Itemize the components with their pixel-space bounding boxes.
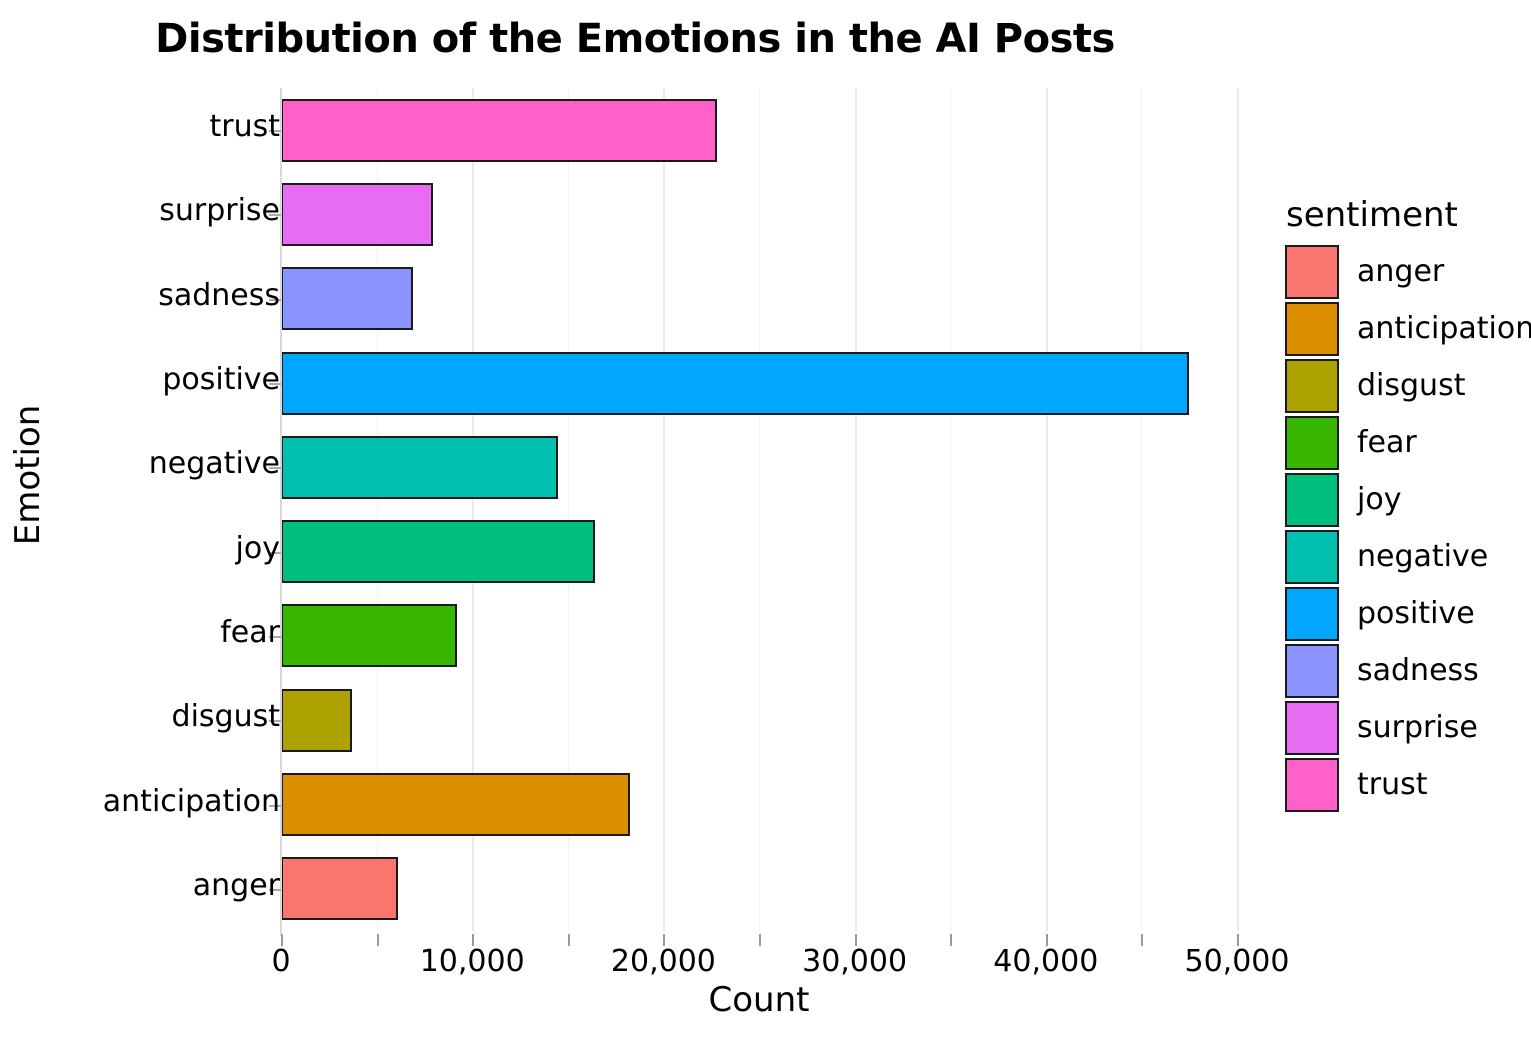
legend-item-sadness[interactable]: sadness: [1285, 642, 1525, 699]
legend-swatch-trust: [1285, 758, 1339, 812]
legend-item-fear[interactable]: fear: [1285, 414, 1525, 471]
legend-swatch-joy: [1285, 473, 1339, 527]
bar-trust: [281, 99, 717, 162]
bar-joy: [281, 520, 595, 583]
bar-fear: [281, 604, 457, 667]
x-tick-mark-minor: [568, 934, 570, 946]
legend-title: sentiment: [1286, 195, 1525, 235]
x-tick-mark-minor: [1141, 934, 1143, 946]
chart-title: Distribution of the Emotions in the AI P…: [0, 16, 1270, 62]
gridline-minor: [950, 88, 951, 931]
bar-positive: [281, 352, 1189, 415]
y-tick-label-negative: negative: [149, 446, 280, 481]
x-tick-label: 50,000: [1185, 944, 1290, 979]
legend-swatch-sadness: [1285, 644, 1339, 698]
legend-swatch-surprise: [1285, 701, 1339, 755]
y-tick-label-fear: fear: [220, 615, 280, 650]
plot-panel: [281, 88, 1237, 931]
legend-item-surprise[interactable]: surprise: [1285, 699, 1525, 756]
legend-label-disgust: disgust: [1357, 368, 1465, 403]
legend-swatch-fear: [1285, 416, 1339, 470]
bar-anticipation: [281, 773, 630, 836]
y-tick-label-anger: anger: [193, 868, 280, 903]
gridline-major: [1046, 88, 1048, 931]
y-axis-title: Emotion: [8, 375, 48, 575]
y-tick-label-positive: positive: [162, 362, 280, 397]
bar-disgust: [281, 689, 352, 752]
x-tick-mark-minor: [759, 934, 761, 946]
y-tick-label-disgust: disgust: [172, 699, 280, 734]
x-tick-label: 0: [271, 944, 290, 979]
legend-label-joy: joy: [1357, 482, 1401, 517]
gridline-minor: [1141, 88, 1142, 931]
y-tick-label-trust: trust: [209, 109, 280, 144]
legend-label-negative: negative: [1357, 539, 1488, 574]
legend-item-trust[interactable]: trust: [1285, 756, 1525, 813]
legend-swatch-positive: [1285, 587, 1339, 641]
legend-item-positive[interactable]: positive: [1285, 585, 1525, 642]
x-tick-label: 30,000: [802, 944, 907, 979]
legend-item-joy[interactable]: joy: [1285, 471, 1525, 528]
y-tick-label-anticipation: anticipation: [103, 784, 280, 819]
x-tick-label: 20,000: [611, 944, 716, 979]
x-axis-title: Count: [281, 980, 1237, 1020]
y-tick-label-surprise: surprise: [159, 193, 280, 228]
gridline-minor: [759, 88, 760, 931]
legend-label-anger: anger: [1357, 254, 1444, 289]
y-tick-label-joy: joy: [236, 531, 280, 566]
legend-label-fear: fear: [1357, 425, 1417, 460]
gridline-major: [855, 88, 857, 931]
x-tick-label: 10,000: [420, 944, 525, 979]
legend-swatch-anger: [1285, 245, 1339, 299]
legend-swatch-negative: [1285, 530, 1339, 584]
legend-label-trust: trust: [1357, 767, 1428, 802]
legend-swatch-anticipation: [1285, 302, 1339, 356]
y-tick-label-sadness: sadness: [158, 278, 280, 313]
legend-item-anger[interactable]: anger: [1285, 243, 1525, 300]
x-tick-label: 40,000: [993, 944, 1098, 979]
legend-swatch-disgust: [1285, 359, 1339, 413]
legend-label-anticipation: anticipation: [1357, 311, 1531, 346]
bar-negative: [281, 436, 558, 499]
bar-sadness: [281, 267, 413, 330]
x-tick-mark-minor: [377, 934, 379, 946]
x-tick-mark-minor: [950, 934, 952, 946]
legend-item-anticipation[interactable]: anticipation: [1285, 300, 1525, 357]
gridline-major: [663, 88, 665, 931]
chart-figure: Distribution of the Emotions in the AI P…: [0, 0, 1531, 1054]
bar-anger: [281, 857, 398, 920]
legend-entries: angeranticipationdisgustfearjoynegativep…: [1285, 243, 1525, 813]
legend-item-negative[interactable]: negative: [1285, 528, 1525, 585]
gridline-major: [1237, 88, 1239, 931]
legend-item-disgust[interactable]: disgust: [1285, 357, 1525, 414]
bar-surprise: [281, 183, 433, 246]
legend-label-sadness: sadness: [1357, 653, 1479, 688]
legend: sentiment angeranticipationdisgustfearjo…: [1285, 195, 1525, 813]
legend-label-surprise: surprise: [1357, 710, 1478, 745]
legend-label-positive: positive: [1357, 596, 1475, 631]
